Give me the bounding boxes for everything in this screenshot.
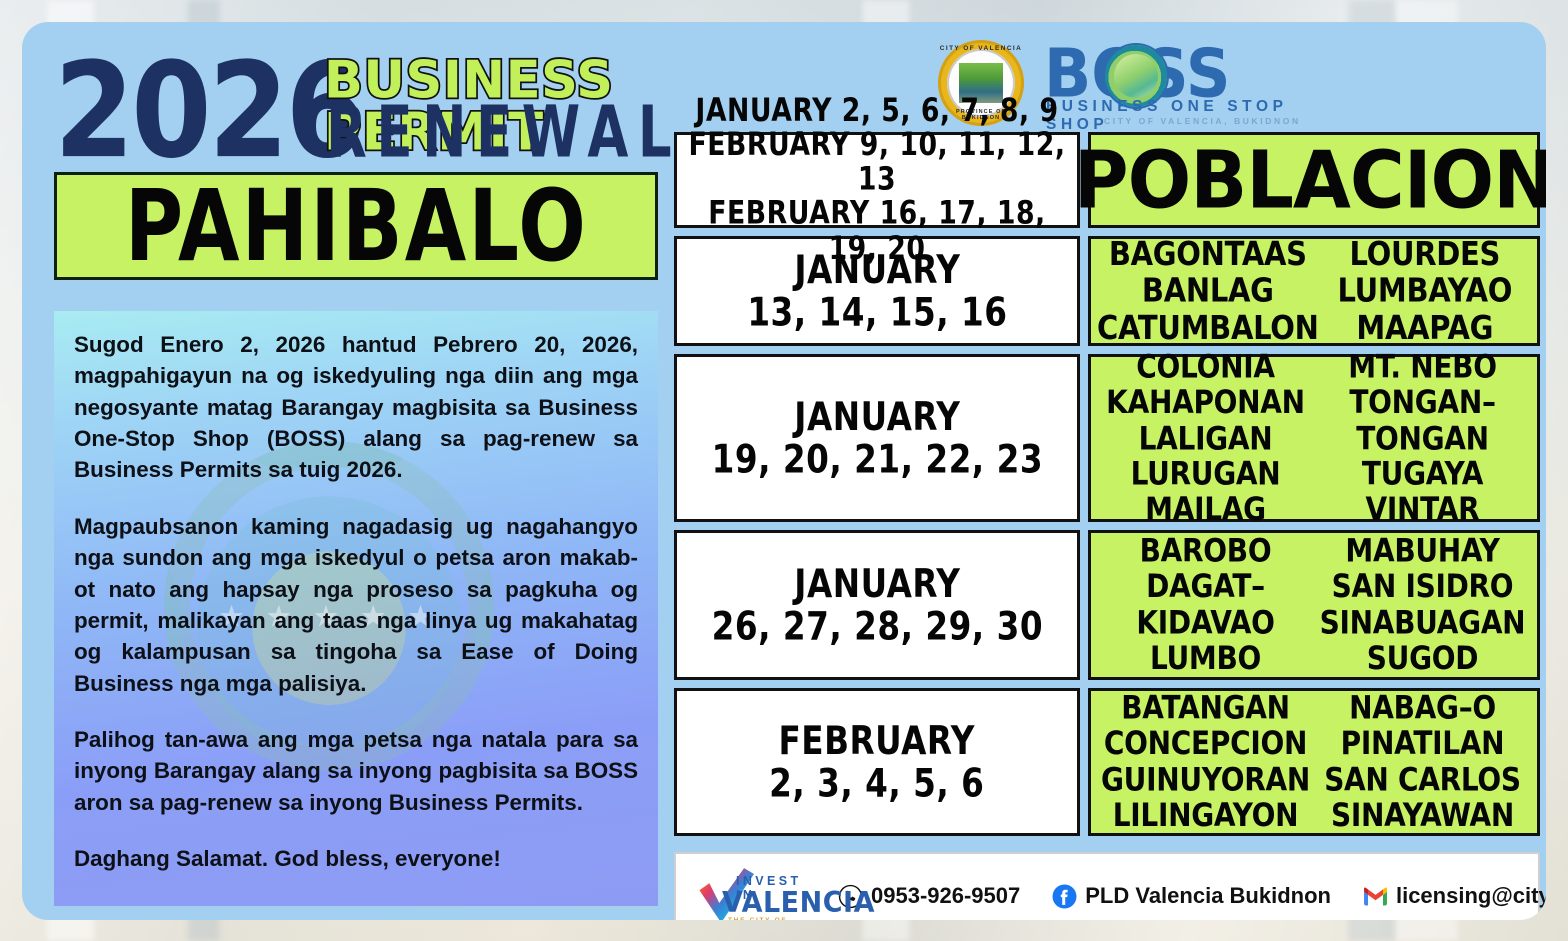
schedule-date-cell: JANUARY19, 20, 21, 22, 23 <box>674 354 1080 522</box>
schedule-row: JANUARY19, 20, 21, 22, 23COLONIAKAHAPONA… <box>674 354 1540 522</box>
barangay-grid: COLONIAKAHAPONANLALIGANLURUGANMAILAGMT. … <box>1097 360 1531 517</box>
barangay-name: CATUMBALON <box>1097 310 1319 347</box>
schedule-barangay-cell: BAGONTAASBANLAGCATUMBALONLOURDESLUMBAYAO… <box>1088 236 1540 346</box>
barangay-column-right: NABAG–OPINATILANSAN CARLOSSINAYAWAN <box>1314 691 1531 834</box>
schedule-table: JANUARY 2, 5, 6, 7, 8, 9FEBRUARY 9, 10, … <box>674 132 1540 844</box>
barangay-name: MAAPAG <box>1319 310 1531 347</box>
barangay-grid: BAGONTAASBANLAGCATUMBALONLOURDESLUMBAYAO… <box>1097 242 1531 339</box>
barangay-name: LURUGAN <box>1097 456 1314 492</box>
paragraph-1: Sugod Enero 2, 2026 hantud Pebrero 20, 2… <box>74 329 638 486</box>
barangay-name: BATANGAN <box>1097 691 1314 727</box>
barangay-name: MAILAG <box>1097 492 1314 528</box>
right-column: CITY OF VALENCIA PROVINCE OF BUKIDNON BO… <box>656 32 1536 912</box>
barangay-name: TUGAYA <box>1314 456 1531 492</box>
barangay-grid: BAROBODAGAT–KIDAVAOLUMBOMABUHAYSAN ISIDR… <box>1097 542 1531 667</box>
schedule-date-line: JANUARY <box>711 396 1042 438</box>
barangay-name: SAN CARLOS <box>1314 762 1531 798</box>
invest-in-valencia-logo: INVEST IN VALENCIA THE CITY OF GOLDEN HA… <box>692 865 824 920</box>
schedule-barangay-cell: POBLACION <box>1088 132 1540 228</box>
barangay-name: GUINUYORAN <box>1097 762 1314 798</box>
schedule-date-cell: JANUARY 2, 5, 6, 7, 8, 9FEBRUARY 9, 10, … <box>674 132 1080 228</box>
boss-location: CITY OF VALENCIA, BUKIDNON <box>1104 116 1301 126</box>
year-heading: 2026 <box>54 50 363 175</box>
poster-card: 2026 BUSINESS PERMIT RENEWAL PAHIBALO Su… <box>22 22 1546 920</box>
barangay-name: BAROBO <box>1097 534 1314 570</box>
schedule-row: FEBRUARY2, 3, 4, 5, 6BATANGANCONCEPCIONG… <box>674 688 1540 836</box>
seal-top-text: CITY OF VALENCIA <box>938 45 1024 52</box>
schedule-date-cell: JANUARY26, 27, 28, 29, 30 <box>674 530 1080 680</box>
barangay-name: DAGAT– <box>1097 569 1314 605</box>
schedule-barangay-cell: BATANGANCONCEPCIONGUINUYORANLILINGAYONNA… <box>1088 688 1540 836</box>
facebook-page: PLD Valencia Bukidnon <box>1085 883 1331 909</box>
barangay-grid: BATANGANCONCEPCIONGUINUYORANLILINGAYONNA… <box>1097 699 1531 824</box>
barangay-name: KIDAVAO <box>1097 605 1314 641</box>
schedule-date-cell: FEBRUARY2, 3, 4, 5, 6 <box>674 688 1080 836</box>
barangay-name: LOURDES <box>1319 235 1531 272</box>
schedule-barangay-cell: COLONIAKAHAPONANLALIGANLURUGANMAILAGMT. … <box>1088 354 1540 522</box>
barangay-column-left: BAROBODAGAT–KIDAVAOLUMBO <box>1097 534 1314 677</box>
paragraph-3: Palihog tan-awa ang mga petsa nga natala… <box>74 724 638 818</box>
title-block: 2026 BUSINESS PERMIT RENEWAL PAHIBALO <box>40 32 670 297</box>
barangay-name: LUMBO <box>1097 641 1314 677</box>
barangay-name: MT. NEBO <box>1314 349 1531 385</box>
renewal-heading: RENEWAL <box>326 97 681 168</box>
barangay-name: TONGAN– <box>1314 384 1531 420</box>
barangay-name: BANLAG <box>1097 272 1319 309</box>
barangay-name: SUGOD <box>1314 641 1531 677</box>
schedule-date-line: JANUARY <box>747 249 1007 291</box>
barangay-column-right: MT. NEBOTONGAN–TONGANTUGAYAVINTAR <box>1314 349 1531 528</box>
schedule-date-text: FEBRUARY2, 3, 4, 5, 6 <box>769 720 984 804</box>
barangay-column-left: COLONIAKAHAPONANLALIGANLURUGANMAILAG <box>1097 349 1314 528</box>
schedule-row: JANUARY26, 27, 28, 29, 30BAROBODAGAT–KID… <box>674 530 1540 680</box>
schedule-row: JANUARY 2, 5, 6, 7, 8, 9FEBRUARY 9, 10, … <box>674 132 1540 228</box>
schedule-date-line: 2, 3, 4, 5, 6 <box>769 762 984 804</box>
schedule-date-line: 26, 27, 28, 29, 30 <box>711 605 1042 647</box>
barangay-name: CONCEPCION <box>1097 726 1314 762</box>
barangay-name: LALIGAN <box>1097 420 1314 456</box>
schedule-date-line: 19, 20, 21, 22, 23 <box>711 438 1042 480</box>
barangay-name: SAN ISIDRO <box>1314 569 1531 605</box>
barangay-name: COLONIA <box>1097 349 1314 385</box>
email-contact[interactable]: licensing@cityofvalencia.gov.ph <box>1363 883 1546 909</box>
barangay-column-left: BAGONTAASBANLAGCATUMBALON <box>1097 235 1319 346</box>
schedule-date-text: JANUARY13, 14, 15, 16 <box>747 249 1007 333</box>
facebook-contact[interactable]: PLD Valencia Bukidnon <box>1052 883 1331 909</box>
paragraph-4: Daghang Salamat. God bless, everyone! <box>74 843 638 874</box>
paragraph-2: Magpaubsanon kaming nagadasig ug nagahan… <box>74 511 638 699</box>
schedule-date-line: FEBRUARY <box>769 720 984 762</box>
barangay-name: PINATILAN <box>1314 726 1531 762</box>
boss-logo: BOSS BUSINESS ONE STOP SHOP CITY OF VALE… <box>1044 38 1306 130</box>
schedule-date-text: JANUARY 2, 5, 6, 7, 8, 9FEBRUARY 9, 10, … <box>685 94 1069 266</box>
gmail-icon <box>1363 884 1388 909</box>
schedule-date-line: JANUARY 2, 5, 6, 7, 8, 9 <box>685 94 1069 128</box>
barangay-name: MABUHAY <box>1314 534 1531 570</box>
schedule-date-text: JANUARY26, 27, 28, 29, 30 <box>711 563 1042 647</box>
schedule-date-line: FEBRUARY 9, 10, 11, 12, 13 <box>685 128 1069 197</box>
footer-contact-bar: INVEST IN VALENCIA THE CITY OF GOLDEN HA… <box>674 852 1540 920</box>
barangay-name: SINAYAWAN <box>1314 798 1531 834</box>
barangay-name: KAHAPONAN <box>1097 384 1314 420</box>
left-column: 2026 BUSINESS PERMIT RENEWAL PAHIBALO Su… <box>40 32 670 912</box>
schedule-barangay-cell: BAROBODAGAT–KIDAVAOLUMBOMABUHAYSAN ISIDR… <box>1088 530 1540 680</box>
barangay-name: BAGONTAAS <box>1097 235 1319 272</box>
facebook-icon <box>1052 884 1077 909</box>
barangay-name: VINTAR <box>1314 492 1531 528</box>
barangay-name: SINABUAGAN <box>1314 605 1531 641</box>
barangay-name: NABAG–O <box>1314 691 1531 727</box>
barangay-column-right: MABUHAYSAN ISIDROSINABUAGANSUGOD <box>1314 534 1531 677</box>
email-address: licensing@cityofvalencia.gov.ph <box>1396 883 1546 909</box>
announcement-text-panel: Sugod Enero 2, 2026 hantud Pebrero 20, 2… <box>54 311 658 906</box>
barangay-column-left: BATANGANCONCEPCIONGUINUYORANLILINGAYON <box>1097 691 1314 834</box>
schedule-date-line: 13, 14, 15, 16 <box>747 291 1007 333</box>
phone-number: 0953-926-9507 <box>871 883 1020 909</box>
schedule-date-text: JANUARY19, 20, 21, 22, 23 <box>711 396 1042 480</box>
schedule-date-line: JANUARY <box>711 563 1042 605</box>
barangay-name: LUMBAYAO <box>1319 272 1531 309</box>
barangay-name: LILINGAYON <box>1097 798 1314 834</box>
pahibalo-banner: PAHIBALO <box>54 172 658 280</box>
barangay-name: TONGAN <box>1314 420 1531 456</box>
barangay-column-right: LOURDESLUMBAYAOMAAPAG <box>1319 235 1531 346</box>
schedule-row: JANUARY13, 14, 15, 16BAGONTAASBANLAGCATU… <box>674 236 1540 346</box>
valencia-wordmark: VALENCIA <box>722 887 875 920</box>
valencia-tagline: THE CITY OF GOLDEN HARVEST <box>728 917 824 920</box>
barangay-poblacion: POBLACION <box>1073 140 1546 219</box>
pahibalo-text: PAHIBALO <box>124 177 587 276</box>
